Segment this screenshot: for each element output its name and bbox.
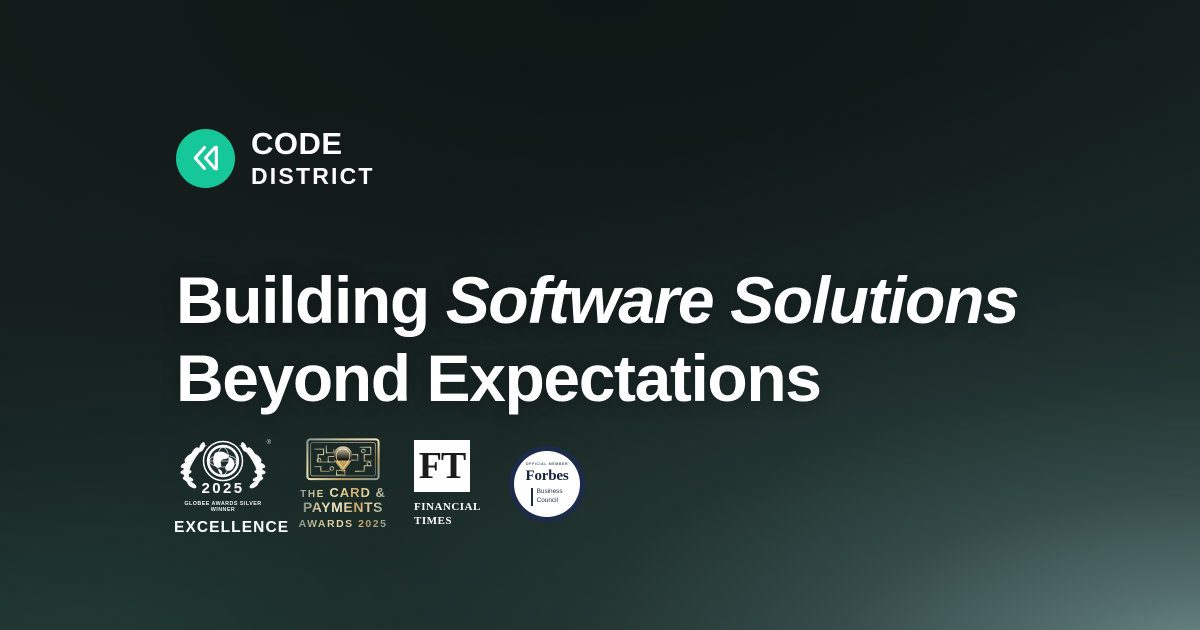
badge-line-1-prefix: THE	[300, 489, 329, 500]
forbes-council-line1: Business	[537, 488, 563, 497]
forbes-seal-icon: OFFICIAL MEMBER Forbes Business Council	[509, 446, 585, 522]
badge-subtitle: GLOBEE AWARDS SILVER WINNER	[174, 501, 272, 513]
badge-card-and-payments-awards: THE CARD & PAYMENTS AWARDS 2025	[295, 438, 391, 530]
forbes-divider	[531, 488, 532, 505]
badge-line-1-main: CARD &	[329, 485, 386, 500]
headline-line-2: Beyond Expectations	[176, 340, 1018, 418]
ft-monogram-icon: FT	[414, 440, 470, 492]
brand-name-line1: CODE	[251, 128, 375, 159]
ft-name-line1: FINANCIAL	[414, 501, 481, 515]
brand-name-line2: DISTRICT	[251, 165, 375, 188]
badge-year: 2025	[174, 480, 272, 497]
headline-italic-text: Software Solutions	[446, 263, 1019, 337]
ft-wordmark: FINANCIAL TIMES	[414, 501, 481, 529]
ft-monogram-text: FT	[419, 447, 466, 485]
forbes-brand: Forbes	[526, 469, 569, 484]
brand-wordmark: CODE DISTRICT	[251, 128, 375, 188]
badge-financial-times: FT FINANCIAL TIMES	[414, 438, 486, 530]
badge-title: EXCELLENCE	[174, 519, 272, 537]
badge-line-1: THE CARD &	[300, 486, 386, 501]
double-chevron-left-icon	[176, 129, 235, 188]
badge-line-2: PAYMENTS	[303, 500, 383, 515]
forbes-official-member: OFFICIAL MEMBER	[526, 462, 568, 466]
brand-logo-lockup[interactable]: CODE DISTRICT	[176, 128, 375, 188]
award-badge-row: ®	[174, 438, 585, 530]
circuit-board-emblem-icon	[303, 438, 383, 481]
promo-banner: CODE DISTRICT Building Software Solution…	[0, 0, 1200, 630]
headline: Building Software Solutions Beyond Expec…	[176, 262, 1018, 418]
badge-globee-awards: ®	[174, 438, 272, 530]
forbes-council-label: Business Council	[537, 488, 563, 505]
headline-plain-text: Building	[176, 263, 446, 337]
headline-line-1: Building Software Solutions	[176, 262, 1018, 340]
badge-line-3: AWARDS 2025	[299, 518, 388, 530]
ft-name-line2: TIMES	[414, 515, 481, 529]
forbes-council-line2: Council	[537, 497, 563, 506]
badge-forbes-business-council: OFFICIAL MEMBER Forbes Business Council	[509, 446, 585, 522]
